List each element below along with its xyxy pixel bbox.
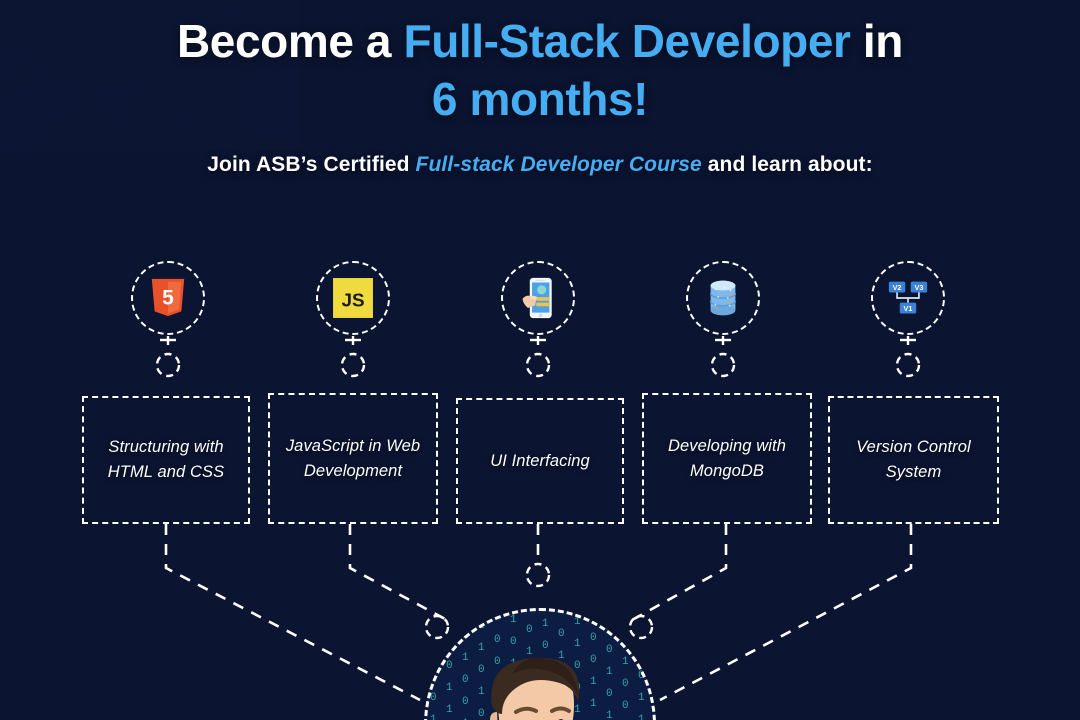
page-subtitle: Join ASB’s Certified Full-stack Develope…: [0, 153, 1080, 177]
svg-text:1: 1: [574, 638, 581, 650]
wire-box-2: [350, 524, 447, 620]
svg-text:1: 1: [606, 710, 613, 720]
svg-text:1: 1: [446, 682, 453, 694]
svg-text:5: 5: [162, 287, 174, 310]
svg-text:1: 1: [622, 634, 629, 646]
svg-text:1: 1: [606, 666, 613, 678]
version-control-icon: V2 V3 V1: [887, 277, 929, 319]
svg-text:1: 1: [574, 704, 581, 716]
svg-text:1: 1: [462, 652, 469, 664]
headline-suffix: in: [851, 15, 903, 67]
badge-ring-1: [157, 354, 179, 376]
svg-text:0: 0: [622, 678, 629, 690]
topic-label: Version Control System: [838, 435, 989, 485]
topic-label: JavaScript in Web Development: [278, 434, 428, 484]
svg-text:0: 0: [430, 692, 437, 704]
svg-text:1: 1: [510, 614, 517, 626]
badge-ring-5: [897, 354, 919, 376]
wire-box-4: [632, 524, 726, 620]
svg-text:V3: V3: [914, 283, 923, 292]
svg-text:1: 1: [558, 650, 565, 662]
svg-text:0: 0: [462, 674, 469, 686]
svg-text:1: 1: [446, 704, 453, 716]
svg-text:1: 1: [638, 692, 645, 704]
svg-text:0: 0: [638, 670, 645, 682]
svg-text:0: 0: [574, 660, 581, 672]
svg-text:0: 0: [558, 628, 565, 640]
wire-ring-center: [527, 564, 549, 586]
html5-icon: 5: [147, 277, 189, 319]
svg-text:0: 0: [510, 636, 517, 648]
topic-label: Developing with MongoDB: [652, 434, 802, 484]
svg-text:0: 0: [430, 626, 437, 638]
wire-box-1: [166, 524, 420, 700]
badge-javascript[interactable]: JS: [316, 261, 390, 335]
subtitle-suffix: and learn about:: [702, 153, 873, 176]
badge-ring-4: [712, 354, 734, 376]
svg-text:0: 0: [622, 700, 629, 712]
svg-text:1: 1: [542, 618, 549, 630]
badge-version-control[interactable]: V2 V3 V1: [871, 261, 945, 335]
page-title: Become a Full-Stack Developer in 6 month…: [0, 12, 1080, 128]
svg-text:1: 1: [446, 616, 453, 628]
svg-text:1: 1: [638, 626, 645, 638]
database-icon: [702, 277, 744, 319]
wire-ring-right: [630, 616, 652, 638]
topic-label: UI Interfacing: [490, 449, 590, 474]
badge-ring-2: [342, 354, 364, 376]
mobile-ui-touch-icon: [517, 277, 559, 319]
topic-card-javascript[interactable]: JavaScript in Web Development: [268, 393, 438, 524]
svg-text:1: 1: [430, 714, 437, 720]
badge-ring-3: [527, 354, 549, 376]
developer-illustration: 01101001 100110101 01001101 110100110 00…: [424, 608, 656, 720]
topic-card-mongodb[interactable]: Developing with MongoDB: [642, 393, 812, 524]
subtitle-prefix: Join ASB’s Certified: [207, 153, 415, 176]
svg-text:0: 0: [606, 688, 613, 700]
svg-text:1: 1: [590, 676, 597, 688]
svg-text:JS: JS: [341, 290, 364, 311]
svg-text:0: 0: [478, 664, 485, 676]
topic-card-html-css[interactable]: Structuring with HTML and CSS: [82, 396, 250, 524]
svg-text:0: 0: [590, 632, 597, 644]
javascript-icon: JS: [332, 277, 374, 319]
svg-text:0: 0: [446, 660, 453, 672]
svg-text:1: 1: [606, 622, 613, 634]
svg-text:V2: V2: [893, 283, 902, 292]
svg-text:0: 0: [638, 648, 645, 660]
svg-text:0: 0: [606, 644, 613, 656]
svg-text:0: 0: [542, 640, 549, 652]
svg-text:0: 0: [446, 638, 453, 650]
topic-card-ui-interfacing[interactable]: UI Interfacing: [456, 398, 624, 524]
svg-text:1: 1: [430, 648, 437, 660]
svg-text:0: 0: [526, 624, 533, 636]
badge-mongodb[interactable]: [686, 261, 760, 335]
svg-text:1: 1: [478, 620, 485, 632]
svg-text:0: 0: [590, 654, 597, 666]
svg-text:1: 1: [526, 646, 533, 658]
svg-text:1: 1: [638, 714, 645, 720]
svg-text:1: 1: [622, 656, 629, 668]
svg-text:1: 1: [478, 686, 485, 698]
svg-text:0: 0: [494, 656, 501, 668]
svg-text:V1: V1: [904, 304, 913, 313]
poster-canvas: Become a Full-Stack Developer in 6 month…: [0, 0, 1080, 720]
svg-text:1: 1: [590, 698, 597, 710]
headline-accent: Full-Stack Developer: [404, 15, 851, 67]
wire-ring-left: [426, 616, 448, 638]
svg-text:1: 1: [430, 670, 437, 682]
svg-text:0: 0: [478, 708, 485, 720]
badge-html5[interactable]: 5: [131, 261, 205, 335]
svg-text:0: 0: [494, 634, 501, 646]
badge-ui-interfacing[interactable]: [501, 261, 575, 335]
developer-illustration-art: 01101001 100110101 01001101 110100110 00…: [424, 608, 656, 720]
svg-text:1: 1: [478, 642, 485, 654]
svg-text:1: 1: [574, 616, 581, 628]
wire-box-5: [660, 524, 911, 700]
topic-card-version-control[interactable]: Version Control System: [828, 396, 999, 524]
headline-line2: 6 months!: [432, 73, 648, 125]
subtitle-accent: Full-stack Developer Course: [416, 153, 702, 176]
topic-label: Structuring with HTML and CSS: [92, 435, 240, 485]
svg-text:0: 0: [622, 612, 629, 624]
svg-text:0: 0: [462, 630, 469, 642]
svg-text:0: 0: [462, 696, 469, 708]
headline-prefix: Become a: [177, 15, 404, 67]
